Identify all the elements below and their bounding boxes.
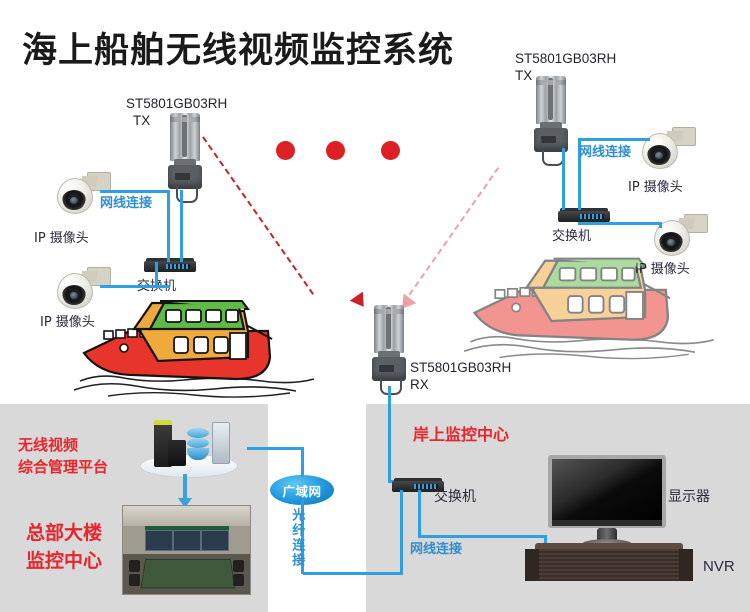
hq-center-line2: 监控中心 [26, 550, 102, 574]
left-cable-cam2-v [155, 262, 158, 286]
flow-arrow-shaft [183, 474, 187, 500]
shore-radio-mode: RX [410, 377, 429, 394]
shore-cable-nvr-h [418, 535, 545, 538]
monitor-chin [552, 520, 662, 526]
video-wall-screen [145, 530, 173, 551]
left-radio-mode: TX [133, 113, 150, 130]
radio-body [168, 165, 202, 189]
storage-disk-2 [187, 438, 209, 448]
fiber-link-label: 光纤连接 [288, 508, 304, 568]
antenna-icon [170, 113, 200, 161]
right-cable-cam1-h [578, 138, 650, 141]
camera-lens [647, 145, 671, 165]
right-link-label: 网线连接 [579, 145, 631, 161]
left-cable-cam1-v [167, 190, 170, 262]
room-chair [233, 560, 244, 572]
left-cable-cam1-drop [100, 190, 103, 193]
right-switch-label: 交换机 [552, 229, 591, 245]
server-rack-3 [212, 422, 230, 464]
left-cable-cam1-h [100, 190, 170, 193]
management-platform-illustration [140, 414, 236, 476]
shore-link-label: 网线连接 [410, 542, 462, 558]
right-radio-model: ST5801GB03RH [515, 51, 616, 68]
nvr-side-right [679, 549, 693, 581]
monitor-screen [552, 459, 662, 520]
right-cable-cam2-h [578, 222, 662, 225]
ellipsis-dot [326, 141, 345, 160]
nvr-body [525, 549, 693, 581]
shore-cable-nvr-v [418, 490, 421, 538]
switch-ports [166, 264, 190, 269]
ellipsis-dot [276, 141, 295, 160]
left-camera-1-label: IP 摄像头 [34, 231, 89, 247]
right-ship-illustration [462, 252, 722, 362]
nvr-side-left [525, 549, 539, 581]
camera-lens [659, 232, 683, 252]
right-cable-radio-v [562, 148, 565, 210]
antenna-icon [374, 305, 404, 353]
hq-center-line1: 总部大楼 [26, 522, 102, 546]
right-ip-camera-1 [640, 125, 696, 169]
right-cable-cam2-v [659, 222, 662, 228]
left-ship-illustration [72, 295, 322, 400]
radio-cable [380, 379, 402, 395]
radio-cable [542, 150, 564, 166]
video-wall-screen [201, 530, 229, 551]
left-radio-tx-device [166, 113, 204, 199]
storage-disk-1 [187, 428, 209, 438]
hq-monitoring-room-photo [122, 505, 251, 595]
wan-label: 广域网 [282, 481, 321, 500]
room-chair [129, 574, 140, 586]
room-chair [233, 574, 244, 586]
hq-platform-line1: 无线视频 [18, 436, 78, 455]
wireless-arrow-left [350, 292, 371, 312]
wan-cable-up-h [247, 447, 304, 450]
left-cable-radio-v [180, 190, 183, 262]
left-radio-model: ST5801GB03RH [126, 96, 227, 113]
page-title: 海上船舶无线视频监控系统 [22, 22, 454, 73]
left-cable-cam2-h [100, 285, 170, 288]
room-ceiling [123, 506, 250, 526]
room-chair [129, 560, 140, 572]
antenna-icon [536, 76, 566, 124]
wan-cable-up [301, 447, 304, 477]
right-ip-camera-2 [652, 212, 708, 256]
shore-cable-wan-h [303, 572, 403, 575]
left-switch-device [144, 258, 196, 274]
shore-switch-label: 交换机 [434, 489, 476, 507]
wan-panel [268, 404, 366, 612]
switch-ports [580, 214, 604, 219]
right-radio-mode: TX [515, 68, 532, 85]
shore-cable-wan-v [400, 490, 403, 574]
hq-platform-line2: 综合管理平台 [18, 458, 108, 477]
shore-radio-rx-device [370, 305, 408, 391]
diagram-canvas: 海上船舶无线视频监控系统 ST5801GB03RH TX IP 摄像头 IP 摄… [0, 0, 750, 612]
video-wall-screen [173, 530, 201, 551]
shore-nvr-label: NVR [703, 558, 735, 577]
camera-lens [62, 190, 86, 210]
wireless-link-left [202, 136, 314, 294]
shore-center-title: 岸上监控中心 [413, 425, 509, 445]
room-table [141, 559, 236, 588]
shore-cable-rx-down [388, 386, 391, 481]
server-rack-2 [168, 440, 186, 466]
right-camera-1-label: IP 摄像头 [628, 180, 683, 196]
shore-nvr-device [525, 543, 693, 581]
shore-monitor-label: 显示器 [668, 489, 710, 507]
left-link-label: 网线连接 [100, 196, 152, 212]
shore-monitor-device [548, 455, 666, 547]
ellipsis-dot [381, 141, 400, 160]
radio-body [372, 357, 406, 381]
shore-radio-model: ST5801GB03RH [410, 360, 511, 377]
